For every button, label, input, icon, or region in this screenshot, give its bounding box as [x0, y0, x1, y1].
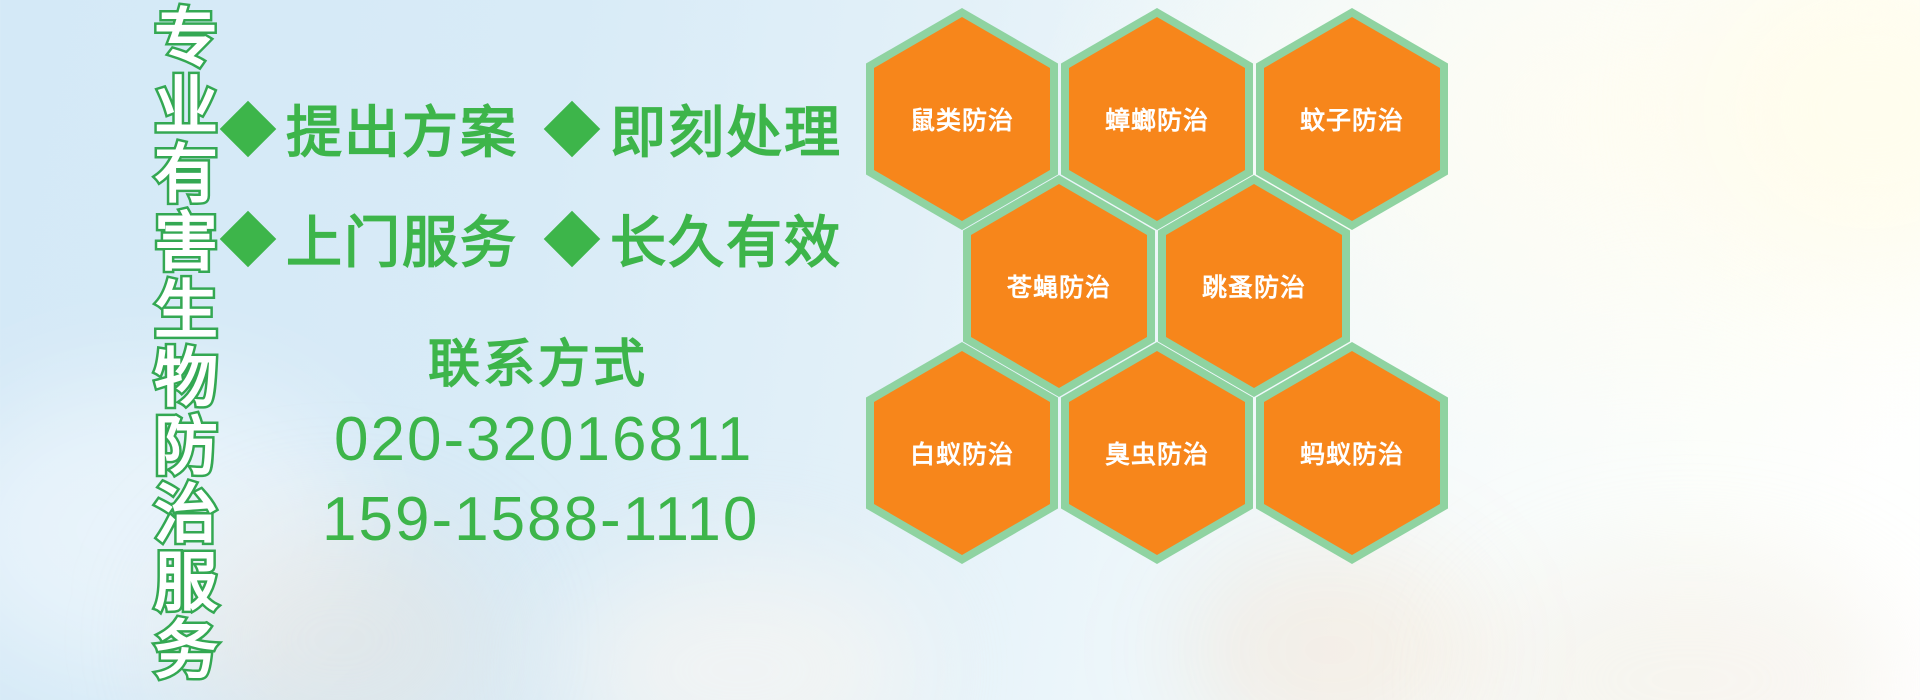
- service-label: 跳蚤防治: [1202, 268, 1306, 304]
- service-label: 蚊子防治: [1300, 101, 1404, 137]
- diamond-bullet-icon: [544, 210, 601, 267]
- service-label: 苍蝇防治: [1007, 268, 1111, 304]
- service-label: 蟑螂防治: [1105, 101, 1209, 137]
- slogan-row-2: 上门服务 长久有效: [228, 198, 842, 279]
- background-blob: [1480, 560, 1900, 700]
- hex-inner: 跳蚤防治: [1166, 184, 1342, 388]
- slogan-label: 上门服务: [286, 198, 518, 279]
- hex-inner: 苍蝇防治: [971, 184, 1147, 388]
- hex-inner: 鼠类防治: [874, 17, 1050, 221]
- slogan-item: 即刻处理: [552, 88, 842, 169]
- vertical-title: 专业有害生物防治服务: [108, 4, 212, 694]
- diamond-bullet-icon: [544, 100, 601, 157]
- service-label: 蚂蚁防治: [1300, 435, 1404, 471]
- slogan-item: 上门服务: [228, 198, 518, 279]
- service-label: 白蚁防治: [910, 435, 1014, 471]
- slogan-label: 即刻处理: [610, 88, 842, 169]
- slogan-label: 提出方案: [286, 88, 518, 169]
- landline-phone-number[interactable]: 020-32016811: [334, 404, 753, 475]
- diamond-bullet-icon: [220, 100, 277, 157]
- slogan-item: 长久有效: [552, 198, 842, 279]
- contact-heading: 联系方式: [428, 322, 648, 397]
- background-blob: [1700, 0, 1920, 260]
- hex-inner: 蚂蚁防治: [1264, 351, 1440, 555]
- diamond-bullet-icon: [220, 210, 277, 267]
- service-honeycomb: 鼠类防治 蟑螂防治 蚊子防治 苍蝇防治 跳蚤防治 白蚁防治 臭虫防治 蚂蚁防治: [860, 0, 1460, 700]
- hex-inner: 蚊子防治: [1264, 17, 1440, 221]
- service-label: 臭虫防治: [1105, 435, 1209, 471]
- hex-inner: 蟑螂防治: [1069, 17, 1245, 221]
- service-label: 鼠类防治: [910, 101, 1014, 137]
- mobile-phone-number[interactable]: 159-1588-1110: [322, 484, 759, 555]
- slogan-item: 提出方案: [228, 88, 518, 169]
- hex-inner: 臭虫防治: [1069, 351, 1245, 555]
- hex-inner: 白蚁防治: [874, 351, 1050, 555]
- slogan-label: 长久有效: [610, 198, 842, 279]
- slogan-row-1: 提出方案 即刻处理: [228, 88, 842, 169]
